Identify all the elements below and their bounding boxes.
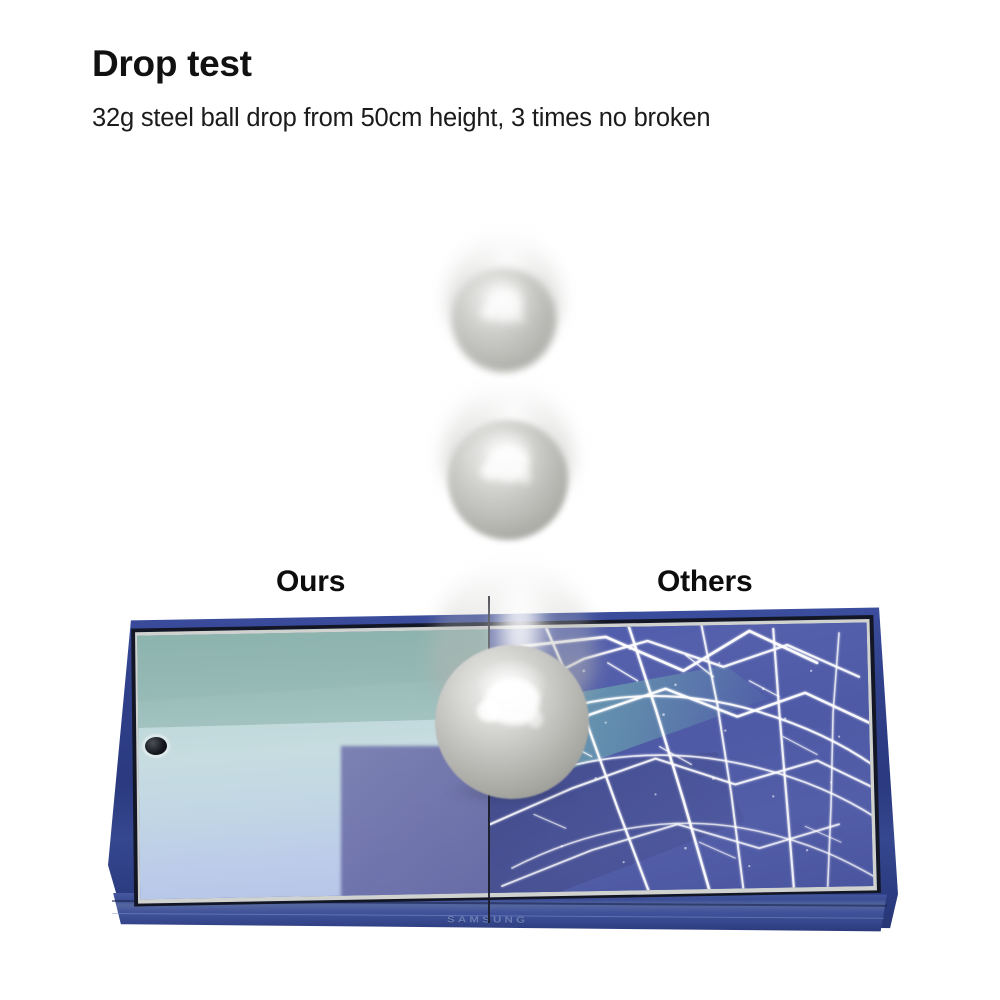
drop-test-infographic: Drop test 32g steel ball drop from 50cm … bbox=[0, 0, 1000, 1000]
steel-ball-1 bbox=[452, 268, 556, 372]
steel-ball-3 bbox=[435, 645, 589, 799]
steel-ball-2 bbox=[448, 420, 568, 540]
front-camera-icon bbox=[144, 737, 167, 756]
